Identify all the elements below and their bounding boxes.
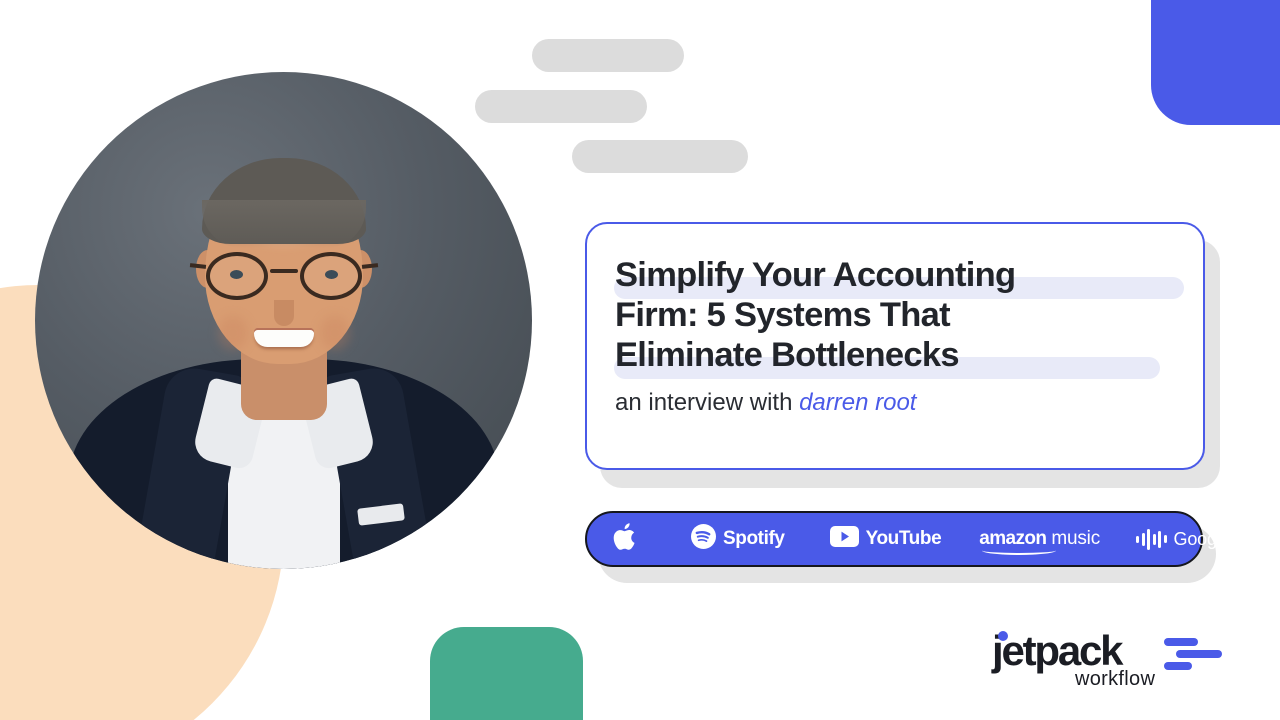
portrait-glasses <box>204 252 364 300</box>
apple-icon <box>613 521 639 558</box>
episode-title: Simplify Your Accounting Firm: 5 Systems… <box>615 255 1183 375</box>
youtube-icon <box>830 526 859 552</box>
platform-bar: Spotify YouTube amazon music <box>585 511 1203 567</box>
youtube-label: YouTube <box>866 528 942 550</box>
spotify-icon <box>691 524 716 554</box>
title-line-1: Simplify Your Accounting <box>615 255 1183 295</box>
title-line-2: Firm: 5 Systems That <box>615 295 1183 335</box>
spotify-label: Spotify <box>723 528 785 550</box>
portrait-cheek-right <box>320 316 350 350</box>
portrait-eye-right <box>325 270 338 279</box>
portrait-cheek-left <box>218 316 248 350</box>
subtitle-prefix: an interview with <box>615 389 799 416</box>
platform-spotify[interactable]: Spotify <box>691 524 785 554</box>
teal-rounded-shape <box>430 627 583 720</box>
logo-dot-icon <box>998 631 1008 641</box>
platform-youtube[interactable]: YouTube <box>830 526 942 552</box>
skeleton-bar-3 <box>572 140 748 173</box>
portrait-smile <box>254 330 314 347</box>
title-card: Simplify Your Accounting Firm: 5 Systems… <box>585 222 1205 470</box>
amazon-brand-label: amazon <box>979 528 1046 550</box>
guest-name: darren root <box>799 389 916 416</box>
amazon-music-label: music <box>1051 528 1100 550</box>
blue-corner-shape <box>1151 0 1280 125</box>
title-line-3: Eliminate Bottlenecks <box>615 335 1183 375</box>
amazon-smile-icon <box>982 546 1056 555</box>
platform-amazon-music[interactable]: amazon music <box>979 528 1100 550</box>
platform-apple[interactable] <box>613 521 639 558</box>
skeleton-bar-1 <box>532 39 684 72</box>
platform-google-podcasts[interactable]: Google Podcasts <box>1136 528 1280 550</box>
portrait-nose <box>274 300 294 326</box>
jetpack-workflow-logo[interactable]: jetpack workflow <box>992 628 1222 690</box>
google-podcasts-waveform-icon <box>1136 528 1167 550</box>
glasses-bridge <box>270 269 298 273</box>
guest-portrait <box>35 72 532 569</box>
google-podcasts-label: Google Podcasts <box>1174 529 1280 550</box>
logo-speed-bars-icon <box>1164 636 1222 672</box>
portrait-hair-fade <box>202 200 366 248</box>
episode-subtitle: an interview with darren root <box>615 388 916 418</box>
episode-card-canvas: Simplify Your Accounting Firm: 5 Systems… <box>0 0 1280 720</box>
brand-tagline: workflow <box>1075 668 1155 691</box>
portrait-eye-left <box>230 270 243 279</box>
